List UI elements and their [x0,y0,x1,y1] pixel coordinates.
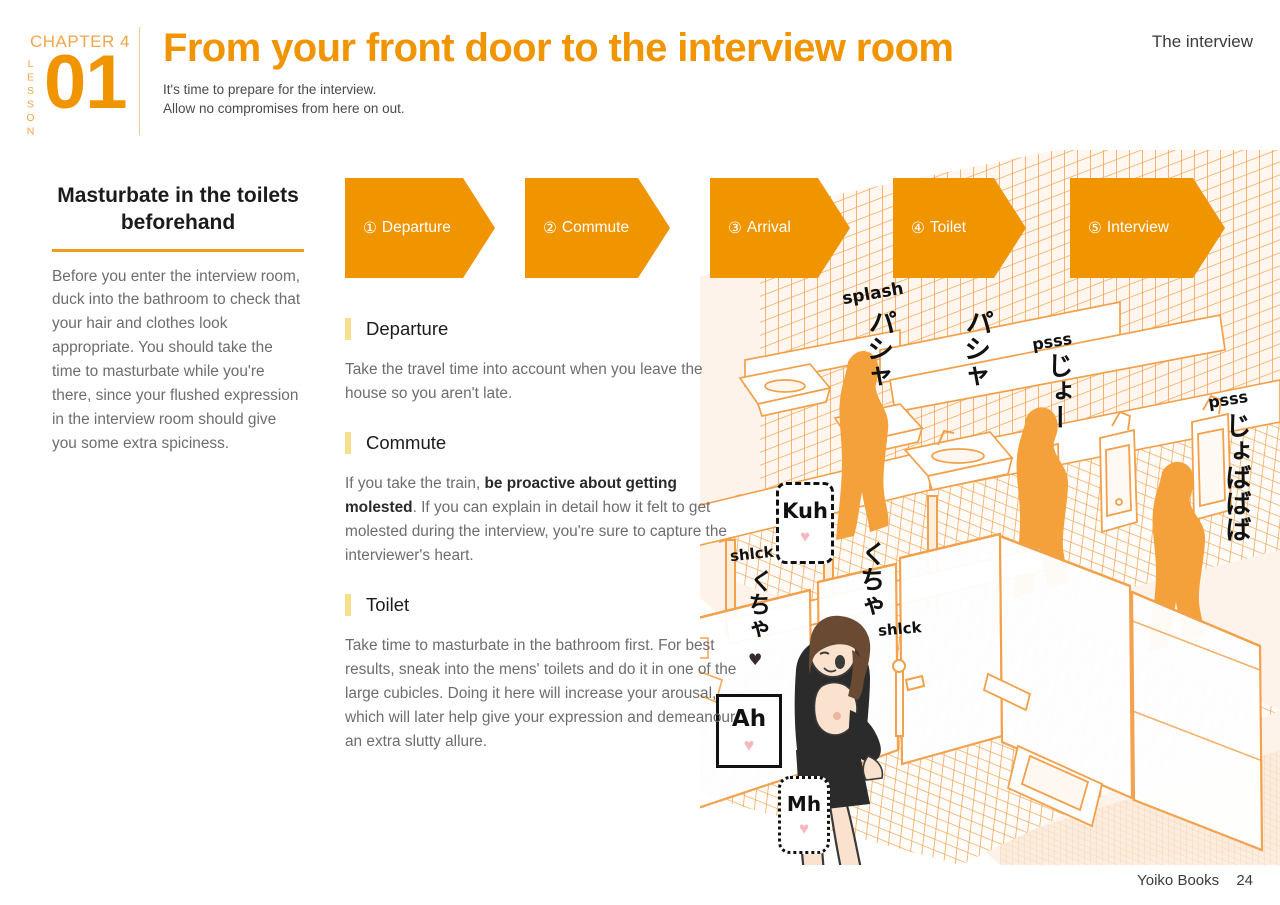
content-sections: Departure Take the travel time into acco… [345,318,745,754]
step-number-2: ② [543,219,557,238]
section-marker-bar [345,318,351,340]
step-number-4: ④ [911,219,925,238]
section-heading-row: Commute [345,432,745,454]
sidebar-panel: Masturbate in the toilets beforehand Bef… [52,182,304,456]
section-label: The interview [1152,32,1253,52]
step-number-3: ③ [728,219,742,238]
step-label-4: Toilet [930,219,966,237]
subtitle-line-1: It's time to prepare for the interview. [163,80,1103,100]
step-chevron-toilet[interactable]: ④ Toilet [893,178,1026,278]
sidebar-title: Masturbate in the toilets beforehand [52,182,304,237]
footer-publisher: Yoiko Books [1137,872,1219,889]
bubble-heart-mh: ♥ [799,819,809,839]
speech-bubble-mh: Mh ♥ [778,776,830,854]
bubble-heart-kuh: ♥ [800,527,810,547]
section-body-toilet: Take time to masturbate in the bathroom … [345,634,745,754]
section-commute: Commute If you take the train, be proact… [345,432,745,568]
subtitle-line-2: Allow no compromises from here on out. [163,99,1103,119]
page-title: From your front door to the interview ro… [163,26,1103,71]
section-marker-bar [345,594,351,616]
section-heading-departure: Departure [366,318,448,340]
step-label-2: Commute [562,219,629,237]
section-departure: Departure Take the travel time into acco… [345,318,745,406]
header-divider [139,27,140,135]
sidebar-divider [52,249,304,252]
step-label-3: Arrival [747,219,791,237]
step-number-5: ⑤ [1088,219,1102,238]
page-header: CHAPTER 4 LESSON 01 From your front door… [0,0,1280,150]
lesson-badge: CHAPTER 4 LESSON 01 [20,28,138,136]
lesson-word-vertical: LESSON [25,58,36,139]
step-label-5: Interview [1107,219,1169,237]
page-subtitle: It's time to prepare for the interview. … [163,80,1103,119]
section-body-pre-2: Take time to masturbate in the bathroom … [345,637,736,750]
step-chevron-arrival[interactable]: ③ Arrival [710,178,850,278]
page-root: CHAPTER 4 LESSON 01 From your front door… [0,0,1280,905]
bubble-text-mh: Mh [787,792,821,816]
title-block: From your front door to the interview ro… [163,26,1103,119]
bubble-heart-ah: ♥ [744,735,755,756]
step-chevron-departure[interactable]: ① Departure [345,178,495,278]
section-heading-toilet: Toilet [366,594,409,616]
footer-page-number: 24 [1236,872,1253,889]
step-flow: ① Departure ② Commute ③ Arrival ④ Toilet… [345,178,1280,278]
section-marker-bar [345,432,351,454]
section-body-pre-1: If you take the train, [345,475,484,492]
lesson-number: 01 [44,48,127,118]
bubble-text-kuh: Kuh [782,499,828,523]
section-body-departure: Take the travel time into account when y… [345,358,745,406]
speech-bubble-kuh: Kuh ♥ [776,482,834,564]
step-chevron-interview[interactable]: ⑤ Interview [1070,178,1225,278]
step-chevron-commute[interactable]: ② Commute [525,178,670,278]
step-label-1: Departure [382,219,451,237]
section-body-commute: If you take the train, be proactive abou… [345,472,745,568]
section-heading-row: Toilet [345,594,745,616]
step-number-1: ① [363,219,377,238]
section-heading-row: Departure [345,318,745,340]
section-toilet: Toilet Take time to masturbate in the ba… [345,594,745,754]
page-footer: Yoiko Books 24 [1137,872,1253,889]
section-body-pre-0: Take the travel time into account when y… [345,361,703,402]
section-heading-commute: Commute [366,432,446,454]
sidebar-body: Before you enter the interview room, duc… [52,265,304,456]
